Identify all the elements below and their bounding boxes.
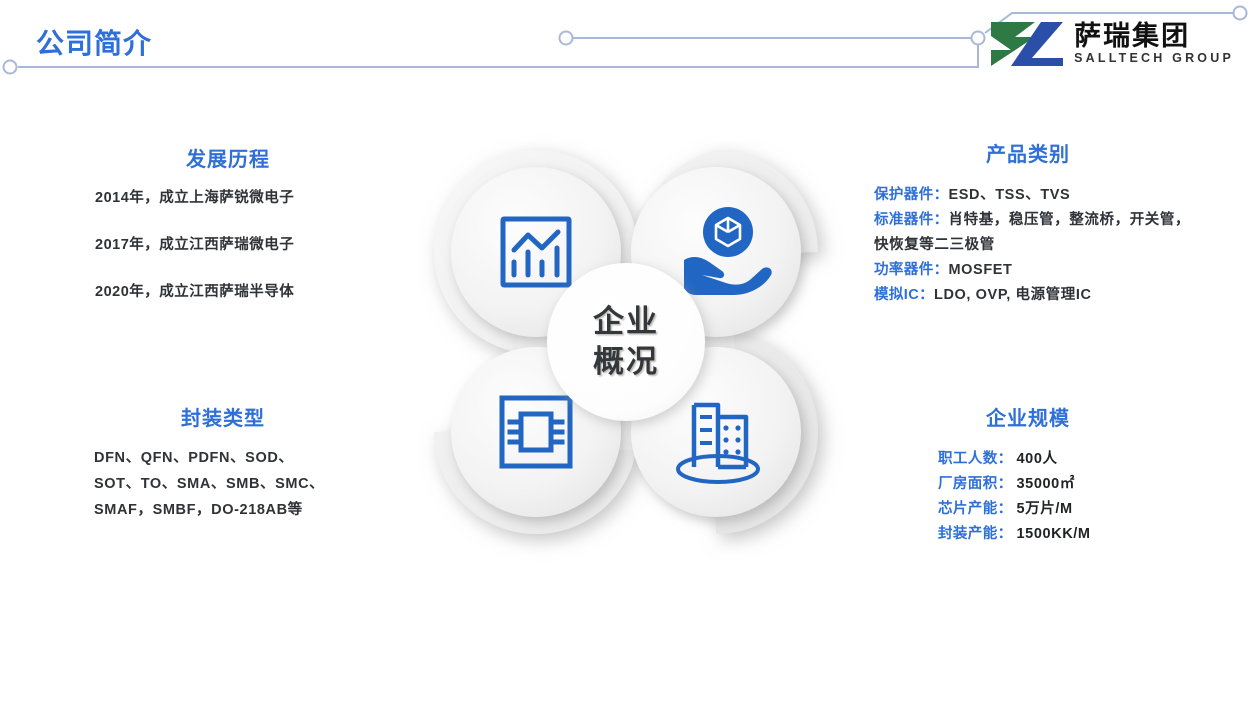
scale-value: 400人	[1017, 447, 1058, 472]
scale-label: 职工人数：	[938, 447, 1013, 472]
salltech-logo-mark-icon	[989, 18, 1065, 70]
product-label: 功率器件：	[874, 262, 949, 278]
block-development-history: 发展历程 2014年，成立上海萨锐微电子 2017年，成立江西萨瑞微电子 202…	[78, 143, 378, 301]
scale-value: 35000㎡	[1017, 472, 1075, 497]
product-label: 保护器件：	[874, 187, 949, 203]
center-circle[interactable]	[547, 263, 705, 421]
history-item: 2014年，成立上海萨锐微电子	[78, 186, 378, 207]
block-title-product-categories: 产品类别	[858, 138, 1198, 167]
block-title-development-history: 发展历程	[78, 143, 378, 172]
slide-header: 公司简介 萨瑞集团 SALLTECH GROUP	[0, 0, 1256, 100]
product-label: 模拟IC：	[874, 287, 934, 303]
block-product-categories: 产品类别 保护器件：ESD、TSS、TVS 标准器件：肖特基，稳压管，整流桥，开…	[858, 138, 1198, 308]
scale-value: 1500KK/M	[1017, 522, 1091, 547]
product-label: 标准器件：	[874, 212, 949, 228]
scale-row: 职工人数： 400人	[938, 447, 1198, 472]
history-item: 2020年，成立江西萨瑞半导体	[78, 280, 378, 301]
product-categories-list: 保护器件：ESD、TSS、TVS 标准器件：肖特基，稳压管，整流桥，开关管，快恢…	[858, 183, 1194, 308]
company-scale-list: 职工人数： 400人 厂房面积： 35000㎡ 芯片产能： 5万片/M 封装产能…	[858, 447, 1198, 547]
development-history-list: 2014年，成立上海萨锐微电子 2017年，成立江西萨瑞微电子 2020年，成立…	[78, 186, 378, 301]
package-types-body: DFN、QFN、PDFN、SOD、SOT、TO、SMA、SMB、SMC、SMAF…	[78, 445, 368, 523]
product-value: LDO, OVP, 电源管理IC	[934, 287, 1092, 303]
scale-label: 芯片产能：	[938, 497, 1013, 522]
logo-text-group: 萨瑞集团 SALLTECH GROUP	[1074, 22, 1234, 65]
scale-row: 厂房面积： 35000㎡	[938, 472, 1198, 497]
product-value: MOSFET	[949, 262, 1013, 278]
logo-name-en: SALLTECH GROUP	[1074, 52, 1234, 66]
block-company-scale: 企业规模 职工人数： 400人 厂房面积： 35000㎡ 芯片产能： 5万片/M…	[858, 402, 1198, 547]
scale-label: 封装产能：	[938, 522, 1013, 547]
slide-canvas: 公司简介 萨瑞集团 SALLTECH GROUP 发展历程 2014年，成立上海…	[0, 0, 1256, 702]
scale-row: 芯片产能： 5万片/M	[938, 497, 1198, 522]
scale-value: 5万片/M	[1017, 497, 1073, 522]
package-types-text: DFN、QFN、PDFN、SOD、SOT、TO、SMA、SMB、SMC、SMAF…	[78, 445, 340, 523]
history-item: 2017年，成立江西萨瑞微电子	[78, 233, 378, 254]
scale-row: 封装产能： 1500KK/M	[938, 522, 1198, 547]
block-package-types: 封装类型 DFN、QFN、PDFN、SOD、SOT、TO、SMA、SMB、SMC…	[78, 402, 368, 523]
scale-label: 厂房面积：	[938, 472, 1013, 497]
page-title: 公司简介	[36, 22, 152, 62]
product-value: ESD、TSS、TVS	[949, 187, 1071, 203]
logo-name-cn: 萨瑞集团	[1074, 22, 1234, 50]
block-title-package-types: 封装类型	[78, 402, 368, 431]
center-diagram: 企业 概况	[406, 122, 846, 562]
company-logo: 萨瑞集团 SALLTECH GROUP	[989, 18, 1234, 70]
block-title-company-scale: 企业规模	[858, 402, 1198, 431]
center-diagram-svg	[406, 122, 846, 562]
